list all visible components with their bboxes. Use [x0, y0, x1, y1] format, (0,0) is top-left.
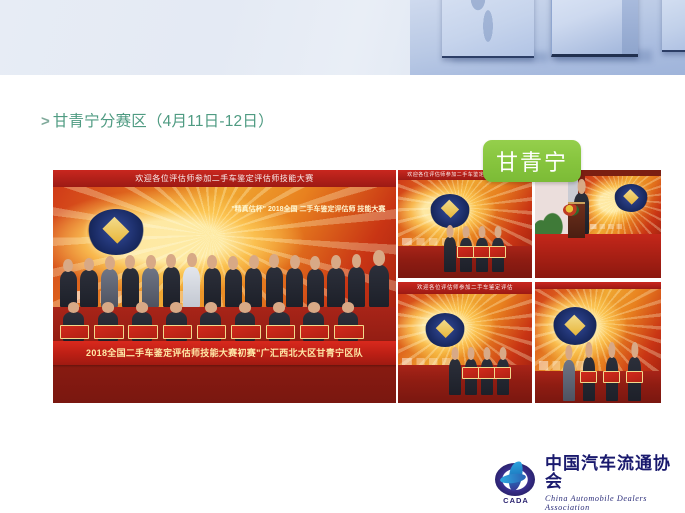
photo-top-banner-text: 欢迎各位评估师参加二手车鉴定评估	[398, 282, 532, 294]
photo-four-winners-top: 欢迎各位评估师参加二手车鉴定评估师技能大赛	[398, 170, 532, 278]
region-badge-label: 甘青宁	[496, 145, 568, 177]
photo-speaker-podium	[535, 170, 661, 278]
sponsor-strip	[590, 224, 643, 230]
certificate	[197, 325, 226, 339]
logo-name-cn: 中国汽车流通协会	[545, 456, 680, 492]
people-row	[398, 228, 532, 272]
people-front-row	[53, 301, 396, 341]
certificate	[580, 371, 597, 383]
event-emblem-icon	[553, 307, 597, 345]
cada-logo: CADA 中国汽车流通协会 China Automobile Dealers A…	[492, 461, 680, 507]
certificate	[163, 325, 192, 339]
red-stage	[535, 234, 661, 278]
certificate	[94, 325, 123, 339]
person-figure	[444, 237, 456, 272]
certificate	[478, 367, 495, 379]
certificate	[494, 367, 511, 379]
flower-arrangement-icon	[563, 204, 579, 216]
certificate	[473, 246, 490, 258]
photo-four-winners-stage	[535, 282, 661, 403]
certificate	[231, 325, 260, 339]
certificate	[489, 246, 506, 258]
logo-name-en: China Automobile Dealers Association	[545, 494, 680, 512]
certificate	[626, 371, 643, 383]
certificate	[128, 325, 157, 339]
photo-group-award-ceremony: 欢迎各位评估师参加二手车鉴定评估师技能大赛 "精真估杯" 2018全国 二手车鉴…	[53, 170, 396, 403]
certificate	[266, 325, 295, 339]
certificate	[603, 371, 620, 383]
logo-wordmark: 中国汽车流通协会 China Automobile Dealers Associ…	[545, 456, 680, 512]
photo-top-banner-text: 欢迎各位评估师参加二手车鉴定评估师技能大赛	[53, 170, 396, 187]
event-emblem-icon	[430, 194, 470, 228]
certificate	[60, 325, 89, 339]
certificate	[300, 325, 329, 339]
people-row	[535, 345, 661, 401]
cada-emblem-icon: CADA	[492, 462, 542, 506]
event-emblem-icon	[425, 313, 465, 347]
event-emblem-icon	[614, 184, 648, 212]
logo-acronym: CADA	[496, 496, 536, 505]
person-figure	[449, 359, 461, 395]
photo-collage: 欢迎各位评估师参加二手车鉴定评估师技能大赛 "精真估杯" 2018全国 二手车鉴…	[0, 0, 685, 513]
photo-four-winners-bottom: 欢迎各位评估师参加二手车鉴定评估	[398, 282, 532, 403]
photo-stage-backdrop	[585, 176, 661, 234]
photo-bottom-banner-text: 2018全国二手车鉴定评估师技能大赛初赛"广汇西北大区甘青宁区队	[53, 341, 396, 365]
certificate	[457, 246, 474, 258]
event-emblem-icon	[87, 209, 145, 255]
people-row	[398, 347, 532, 395]
certificate	[334, 325, 363, 339]
slide-canvas: > 甘青宁分赛区（4月11日-12日） 欢迎各位评估师参加二手车鉴定评估师技能大…	[0, 0, 685, 513]
region-badge: 甘青宁	[483, 140, 581, 182]
certificate	[462, 367, 479, 379]
potted-plant-icon	[535, 218, 550, 234]
photo-top-banner-text	[535, 282, 661, 289]
person-figure	[563, 360, 576, 401]
